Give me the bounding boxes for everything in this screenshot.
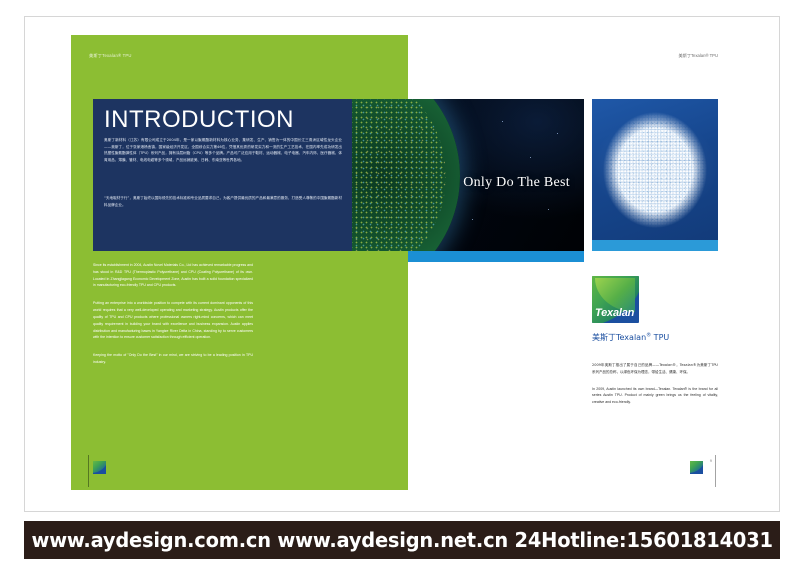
star-icon [502, 121, 503, 122]
intro-english-paragraph-1: Since its establishment in 2004, Austin … [93, 262, 253, 289]
intro-chinese-paragraph-1: 奥斯丁新材料（江苏）有限公司成立于2004年，是一家以聚氨酯新材料为核心业务，集… [104, 137, 342, 164]
page-title: INTRODUCTION [104, 106, 294, 134]
leaf-logo-icon [690, 461, 703, 474]
brand-english-paragraph: In 2009, Austin launched its own brand—T… [592, 386, 718, 406]
pellets-pile [602, 111, 708, 229]
blue-accent-bar [408, 251, 584, 262]
hero-slogan: Only Do The Best [352, 175, 570, 191]
texalan-logo-mark: Texalan [592, 276, 639, 323]
pellets-blue-strip [592, 240, 718, 251]
banner-text: www.aydesign.com.cn www.aydesign.net.cn … [31, 528, 772, 552]
footer-rule [715, 455, 716, 487]
left-page-footer [88, 455, 118, 487]
watermark-banner: www.aydesign.com.cn www.aydesign.net.cn … [24, 521, 780, 559]
leaf-logo-icon [93, 461, 106, 474]
earth-hero-image: Only Do The Best [352, 99, 584, 251]
texalan-logo-wordmark: Texalan [595, 307, 634, 319]
logo-caption-cn: 美斯丁 [592, 333, 616, 342]
texalan-logo-caption: 美斯丁Texalan® TPU [592, 332, 718, 343]
tpu-pellets-image [592, 99, 718, 251]
leaf-icon [93, 461, 106, 473]
intro-english-block: Since its establishment in 2004, Austin … [93, 262, 253, 377]
introduction-navy-block: INTRODUCTION 奥斯丁新材料（江苏）有限公司成立于2004年，是一家以… [93, 99, 353, 251]
logo-caption-brand: Texalan [616, 333, 646, 342]
page-number: 9 [710, 458, 712, 463]
intro-chinese-paragraph-2: “天地取材于行”，奥斯丁始终以国际领先的技术标准和专业品质要求自己，为客户提供最… [104, 195, 342, 208]
intro-english-paragraph-2: Putting an enterprise into a worldwide p… [93, 300, 253, 341]
star-icon [530, 157, 531, 158]
right-page-footer: 9 [686, 455, 716, 487]
footer-rule [88, 455, 89, 487]
star-icon [548, 209, 549, 210]
right-page-text-block: 2009年奥斯丁推出了属于自己的品牌——Texalan®，Texalan®为美斯… [592, 362, 718, 416]
right-page-header: 美斯丁Texalan® TPU [584, 53, 724, 59]
star-icon [557, 133, 558, 134]
left-page-header: 美斯丁Texalan® TPU [89, 53, 132, 59]
brochure-spread-stage: 美斯丁Texalan® TPU INTRODUCTION 奥斯丁新材料（江苏）有… [0, 0, 801, 563]
logo-caption-suffix: TPU [651, 333, 669, 342]
texalan-logo-block: Texalan 美斯丁Texalan® TPU [592, 276, 718, 343]
intro-english-paragraph-3: Keeping the motto of "Only Do the Best" … [93, 352, 253, 366]
brand-chinese-paragraph: 2009年奥斯丁推出了属于自己的品牌——Texalan®，Texalan®为美斯… [592, 362, 718, 376]
leaf-icon [690, 461, 703, 473]
star-icon [472, 219, 473, 220]
